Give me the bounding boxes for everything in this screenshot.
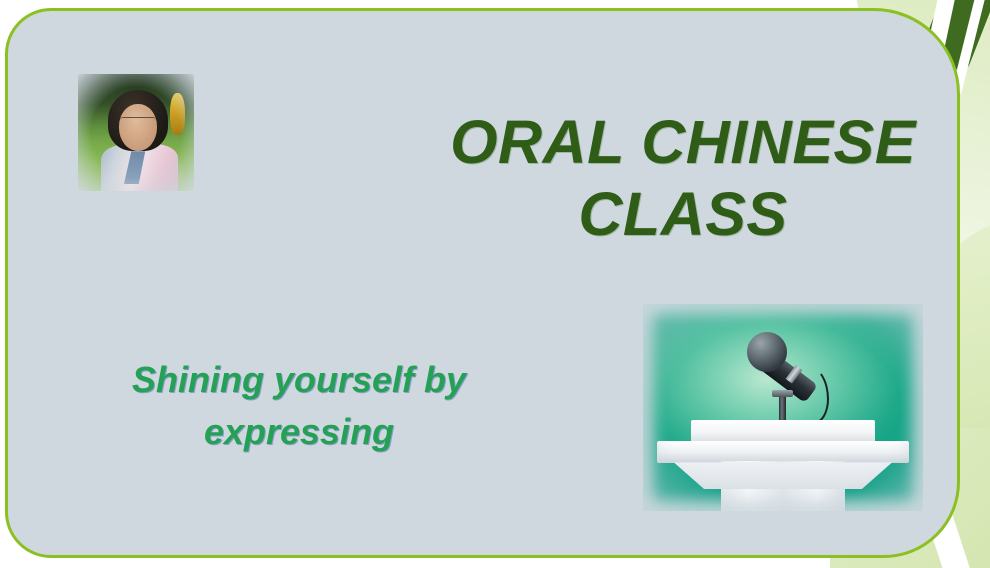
page-title: ORAL CHINESE CLASS (403, 106, 960, 250)
podium-soft-edge-vignette (643, 304, 923, 511)
podium-microphone-illustration (643, 304, 923, 511)
speaker-portrait-photo (78, 74, 194, 191)
title-line-1: ORAL CHINESE (403, 106, 960, 178)
photo-soft-edge-vignette (78, 74, 194, 191)
subtitle-line-1: Shining yourself by (68, 354, 530, 406)
slide-card: ORAL CHINESE CLASS Shining yourself by e… (5, 8, 960, 558)
page-subtitle: Shining yourself by expressing (68, 354, 530, 458)
subtitle-line-2: expressing (68, 406, 530, 458)
slide-stage: ORAL CHINESE CLASS Shining yourself by e… (0, 0, 990, 568)
title-line-2: CLASS (403, 178, 960, 250)
